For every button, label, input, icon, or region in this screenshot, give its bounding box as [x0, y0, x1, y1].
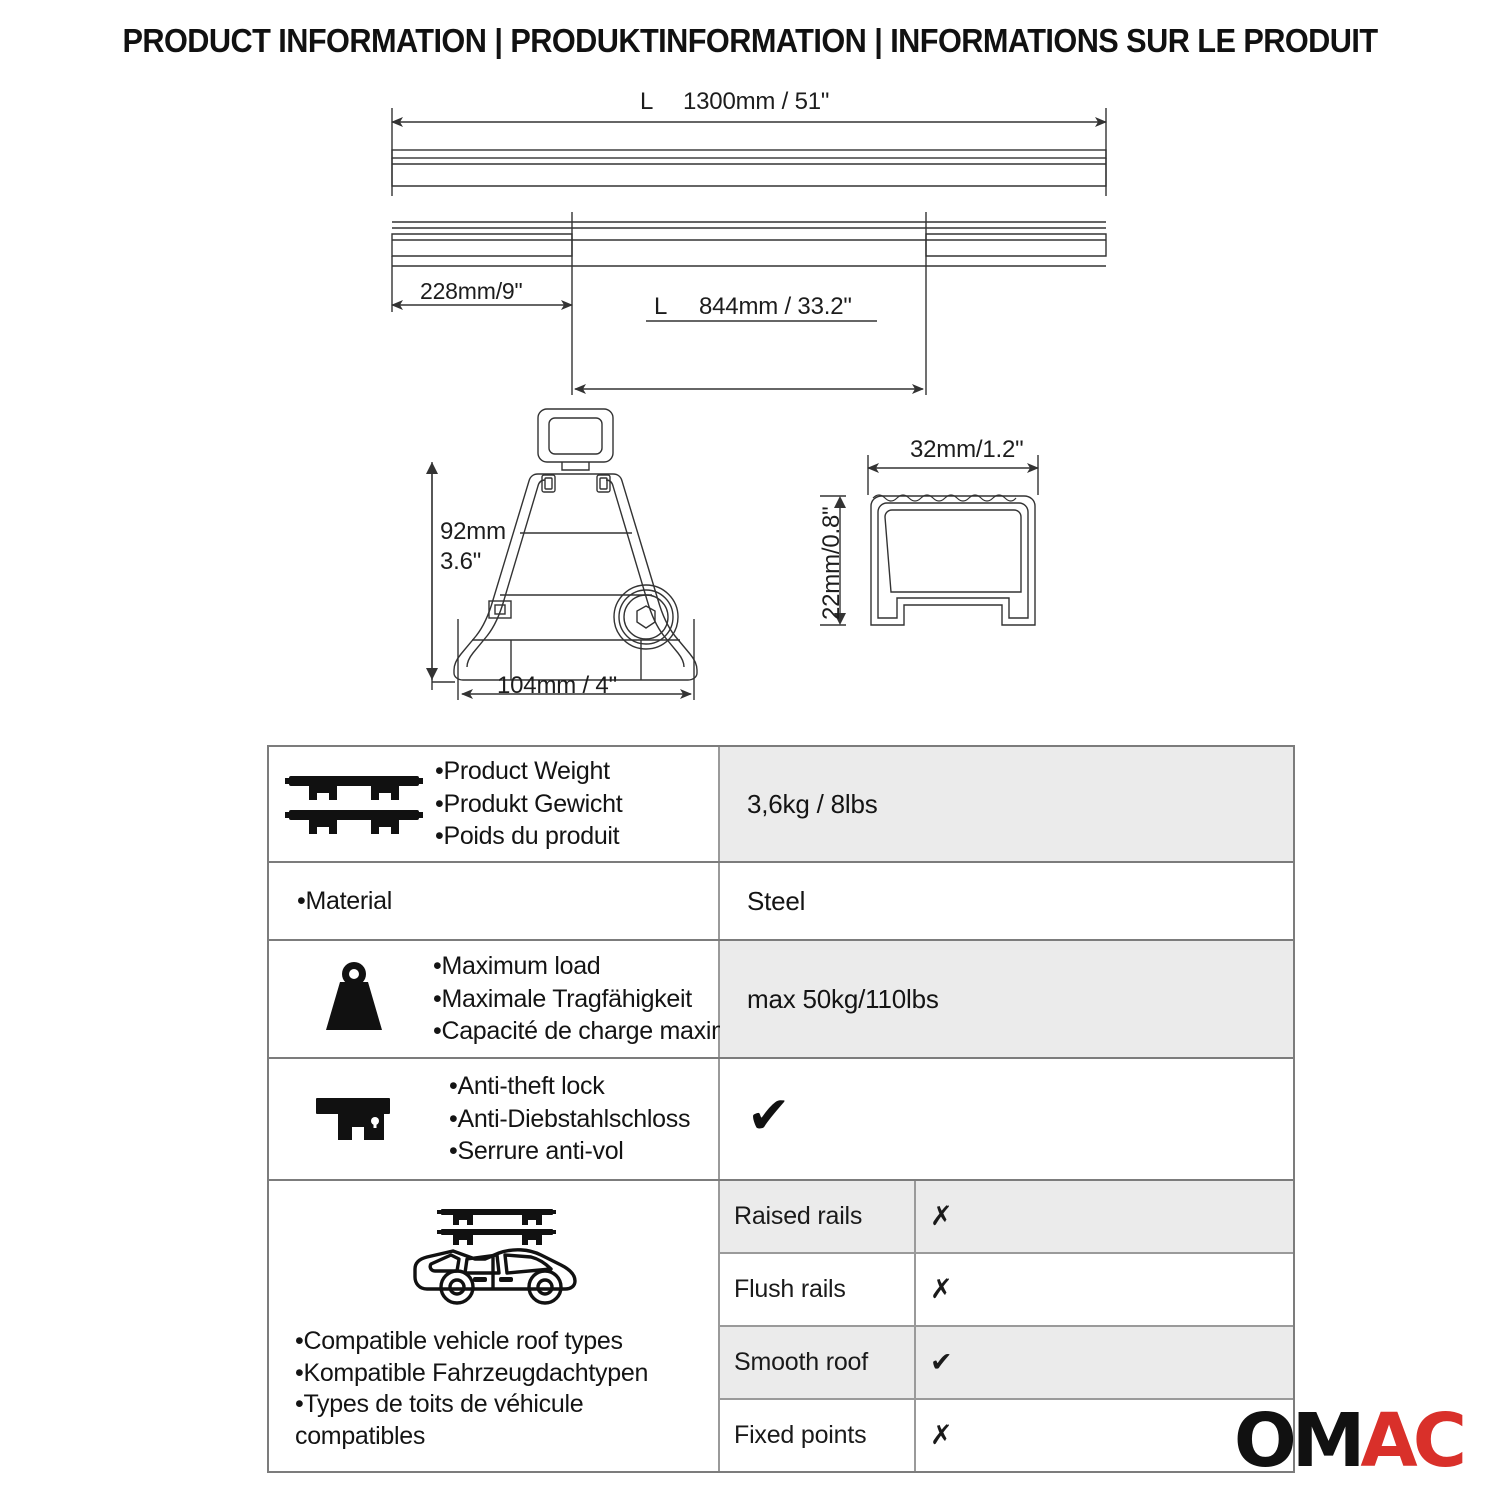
span-value: 844mm / 33.2"	[699, 293, 852, 321]
label-line: •Serrure anti-vol	[449, 1135, 690, 1168]
row-label-cell: •Product Weight •Produkt Gewicht •Poids …	[269, 747, 720, 861]
label-line: •Maximum load	[433, 950, 764, 983]
label-line: •Kompatible Fahrzeugdachtypen	[295, 1358, 648, 1390]
car-with-rack-icon	[389, 1193, 599, 1316]
row-label-cell: •Anti-theft lock •Anti-Diebstahlschloss …	[269, 1059, 720, 1179]
profile-height-value: 22mm/0.8"	[818, 507, 846, 620]
table-row: •Anti-theft lock •Anti-Diebstahlschloss …	[269, 1059, 1293, 1181]
span-prefix: L	[654, 293, 667, 321]
label-line: •Capacité de charge maximale	[433, 1015, 764, 1048]
row-label-cell: •Maximum load •Maximale Tragfähigkeit •C…	[269, 941, 720, 1057]
crossbars-icon	[279, 768, 429, 840]
bar-length-value: 1300mm / 51"	[683, 88, 829, 116]
row-label-cell: •Material	[269, 863, 720, 939]
roof-type-row-raised-rails: Raised rails ✗	[720, 1181, 1293, 1254]
row-value-weight: 3,6kg / 8lbs	[720, 747, 1293, 861]
label-line: •Produkt Gewicht	[435, 788, 622, 821]
roof-type-name: Smooth roof	[720, 1327, 916, 1398]
cross-mark-icon: ✗	[916, 1254, 1293, 1325]
table-row: •Compatible vehicle roof types •Kompatib…	[269, 1181, 1293, 1471]
roof-type-name: Flush rails	[720, 1254, 916, 1325]
check-mark-icon: ✔	[747, 1090, 790, 1142]
roof-type-name: Raised rails	[720, 1181, 916, 1252]
table-row: •Material Steel	[269, 863, 1293, 941]
row-label-text: •Anti-theft lock •Anti-Diebstahlschloss …	[429, 1070, 690, 1168]
foot-height-line1: 92mm	[440, 518, 506, 546]
label-line: •Material	[297, 885, 392, 918]
label-line: •Types de toits de véhicule	[295, 1389, 648, 1421]
row-label-text: •Material	[297, 885, 392, 918]
roof-types-subtable: Raised rails ✗ Flush rails ✗ Smooth roof…	[720, 1181, 1293, 1471]
weight-icon	[279, 960, 429, 1038]
table-row: •Product Weight •Produkt Gewicht •Poids …	[269, 747, 1293, 863]
row-value-material: Steel	[720, 863, 1293, 939]
specification-table: •Product Weight •Produkt Gewicht •Poids …	[267, 745, 1295, 1473]
label-line: •Anti-theft lock	[449, 1070, 690, 1103]
label-line: •Anti-Diebstahlschloss	[449, 1103, 690, 1136]
lock-icon	[279, 1088, 429, 1150]
roof-type-row-smooth-roof: Smooth roof ✔	[720, 1327, 1293, 1400]
row-value-anti-theft: ✔	[720, 1059, 1293, 1179]
check-mark-icon: ✔	[916, 1327, 1293, 1398]
logo-text-dark: OM	[1234, 1404, 1361, 1478]
technical-drawing: L 1300mm / 51" 228mm/9" L 844mm / 33.2" …	[0, 0, 1500, 740]
table-row: •Maximum load •Maximale Tragfähigkeit •C…	[269, 941, 1293, 1059]
foot-width-value: 104mm / 4"	[497, 672, 617, 700]
roof-type-row-flush-rails: Flush rails ✗	[720, 1254, 1293, 1327]
roof-type-name: Fixed points	[720, 1400, 916, 1471]
roof-types-label-text: •Compatible vehicle roof types •Kompatib…	[269, 1326, 648, 1452]
label-line: •Poids du produit	[435, 820, 622, 853]
profile-width-value: 32mm/1.2"	[910, 436, 1023, 464]
bar-length-prefix: L	[640, 88, 653, 116]
roof-types-label-cell: •Compatible vehicle roof types •Kompatib…	[269, 1181, 720, 1471]
label-line: •Maximale Tragfähigkeit	[433, 983, 764, 1016]
roof-type-row-fixed-points: Fixed points ✗	[720, 1400, 1293, 1471]
cross-mark-icon: ✗	[916, 1181, 1293, 1252]
foot-height-line2: 3.6"	[440, 548, 481, 576]
label-line: •Product Weight	[435, 755, 622, 788]
label-line: •Compatible vehicle roof types	[295, 1326, 648, 1358]
omac-logo: OMAC	[1234, 1404, 1462, 1478]
label-line: compatibles	[295, 1421, 648, 1453]
product-information-sheet: PRODUCT INFORMATION | PRODUKTINFORMATION…	[0, 0, 1500, 1500]
row-label-text: •Maximum load •Maximale Tragfähigkeit •C…	[429, 950, 764, 1048]
foot-offset-value: 228mm/9"	[420, 278, 522, 305]
logo-text-accent: AC	[1360, 1404, 1462, 1478]
row-label-text: •Product Weight •Produkt Gewicht •Poids …	[429, 755, 622, 853]
row-value-max-load: max 50kg/110lbs	[720, 941, 1293, 1057]
